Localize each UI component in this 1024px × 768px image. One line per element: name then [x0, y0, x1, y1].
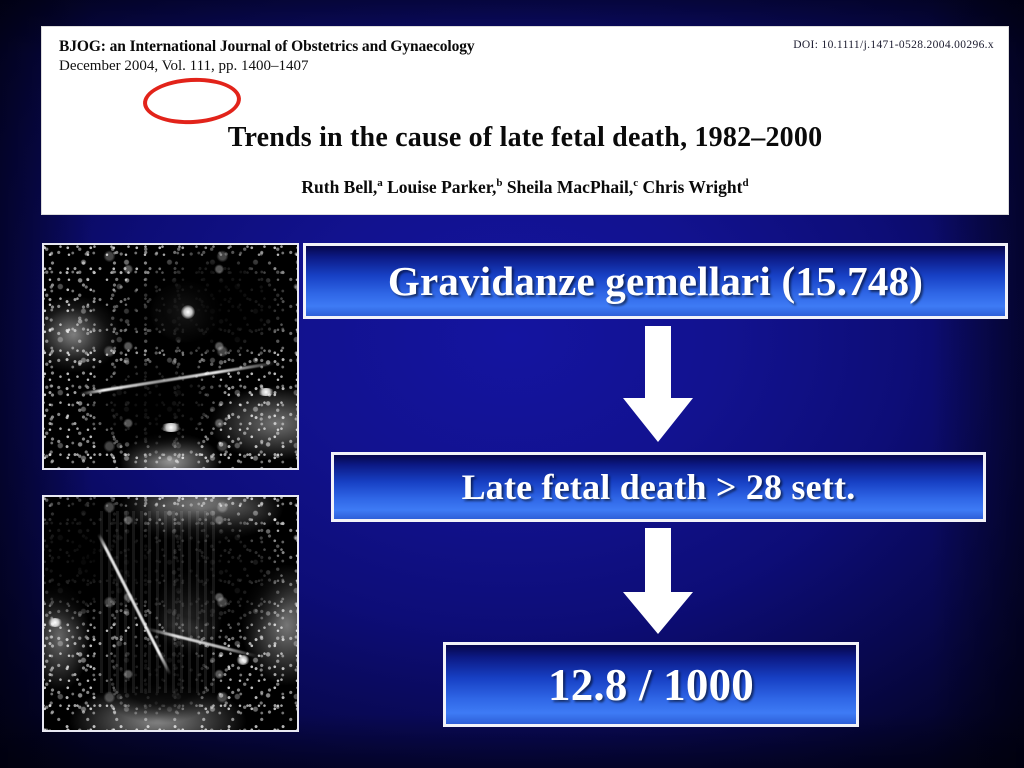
author-affiliation-2: b [496, 177, 502, 189]
author-affiliation-4: d [742, 177, 748, 189]
ultrasound-speckle-texture-large [42, 495, 299, 732]
author-affiliation-1: a [377, 177, 383, 189]
ultrasound-speckle-texture-large [42, 243, 299, 470]
journal-header-panel: BJOG: an International Journal of Obstet… [42, 27, 1008, 214]
ultrasound-image-2-content [44, 497, 297, 730]
red-ellipse-annotation-icon [142, 75, 242, 126]
flow-step-outcome-label: Late fetal death > 28 sett. [462, 466, 856, 508]
flow-step-cohort[interactable]: Gravidanze gemellari (15.748) [303, 243, 1008, 319]
paper-authors: Ruth Bell,a Louise Parker,b Sheila MacPh… [42, 177, 1008, 198]
journal-doi: DOI: 10.1111/j.1471-0528.2004.00296.x [793, 39, 994, 51]
presentation-slide: BJOG: an International Journal of Obstet… [0, 0, 1024, 768]
journal-name: BJOG: an International Journal of Obstet… [59, 37, 475, 57]
flow-step-outcome[interactable]: Late fetal death > 28 sett. [331, 452, 986, 522]
author-name-1: Ruth Bell, [301, 177, 377, 197]
flow-step-rate-label: 12.8 / 1000 [548, 659, 754, 711]
flow-step-cohort-label: Gravidanze gemellari (15.748) [388, 257, 923, 305]
ultrasound-bright-focus-1 [181, 305, 195, 319]
author-name-3: Sheila MacPhail, [507, 177, 633, 197]
ultrasound-bright-focus-3 [257, 388, 275, 396]
ultrasound-bright-focus-1 [47, 618, 63, 627]
down-arrow-icon-1 [621, 326, 695, 444]
ultrasound-image-1-content [44, 245, 297, 468]
journal-issue-line: December 2004, Vol. 111, pp. 1400–1407 [59, 57, 475, 77]
journal-metadata: BJOG: an International Journal of Obstet… [59, 37, 475, 77]
author-name-4: Chris Wright [642, 177, 742, 197]
paper-title: Trends in the cause of late fetal death,… [42, 122, 1008, 154]
ultrasound-image-1 [42, 243, 299, 470]
down-arrow-icon-2 [621, 528, 695, 636]
flow-step-rate[interactable]: 12.8 / 1000 [443, 642, 859, 727]
ultrasound-image-2 [42, 495, 299, 732]
author-affiliation-3: c [633, 177, 638, 189]
author-name-2: Louise Parker, [387, 177, 496, 197]
